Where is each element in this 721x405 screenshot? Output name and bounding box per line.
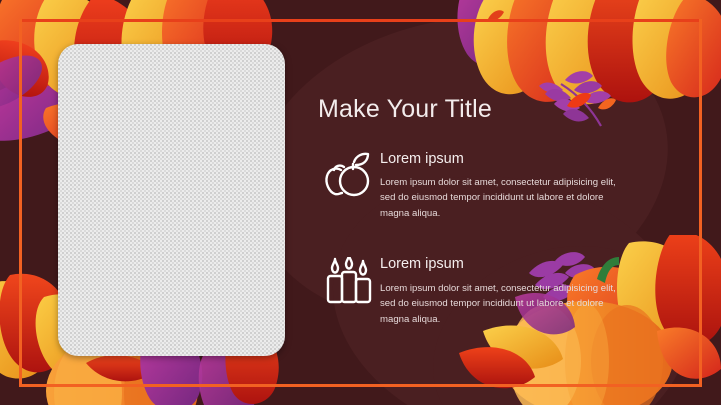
frame-border-right bbox=[699, 19, 702, 387]
feature-item-2: Lorem ipsum Lorem ipsum dolor sit amet, … bbox=[318, 255, 668, 327]
feature-text-2: Lorem ipsum Lorem ipsum dolor sit amet, … bbox=[380, 255, 668, 327]
decor-floating-leaf bbox=[28, 338, 44, 350]
feature-body: Lorem ipsum dolor sit amet, consectetur … bbox=[380, 281, 630, 328]
frame-border-left bbox=[19, 19, 22, 387]
page-title: Make Your Title bbox=[318, 96, 668, 124]
slide-canvas: Make Your Title Lorem ipsum Lorem ipsum … bbox=[0, 0, 721, 405]
content-column: Make Your Title Lorem ipsum Lorem ipsum … bbox=[318, 96, 668, 361]
feature-heading: Lorem ipsum bbox=[380, 256, 668, 273]
feature-text-1: Lorem ipsum Lorem ipsum dolor sit amet, … bbox=[380, 150, 668, 222]
image-placeholder-card[interactable] bbox=[58, 44, 285, 356]
apples-icon bbox=[318, 150, 380, 198]
feature-item-1: Lorem ipsum Lorem ipsum dolor sit amet, … bbox=[318, 150, 668, 222]
candles-icon bbox=[318, 255, 380, 307]
frame-border-top bbox=[19, 19, 702, 22]
feature-body: Lorem ipsum dolor sit amet, consectetur … bbox=[380, 175, 630, 222]
frame-border-bottom bbox=[19, 384, 702, 387]
feature-heading: Lorem ipsum bbox=[380, 151, 668, 168]
